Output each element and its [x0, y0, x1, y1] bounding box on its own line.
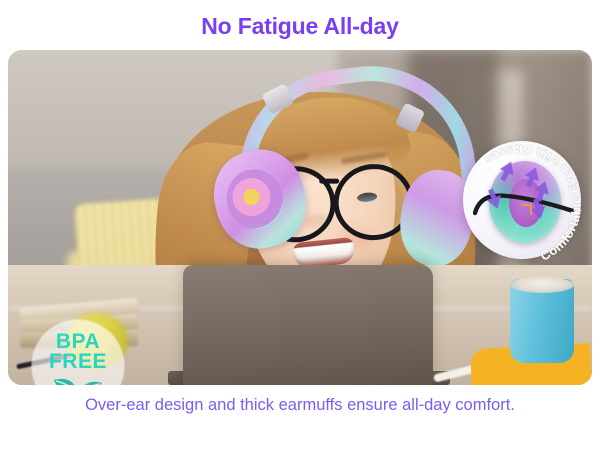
bpa-label-line2: FREE: [49, 352, 107, 372]
leaf-icon: [52, 375, 104, 385]
bpa-label-line1: BPA: [56, 332, 100, 352]
laptop: [183, 265, 433, 385]
comfortable-with-glasses-badge: Comfortable Even with Glasses: [451, 135, 591, 275]
caption-text: Over-ear design and thick earmuffs ensur…: [0, 395, 600, 415]
page-title: No Fatigue All-day: [0, 13, 600, 39]
blue-cup-rim: [510, 277, 574, 293]
hero-photo: BPA FREE: [8, 50, 592, 385]
earcup-decor-ring: [220, 163, 289, 235]
pressure-arrows-icon: [451, 135, 591, 275]
